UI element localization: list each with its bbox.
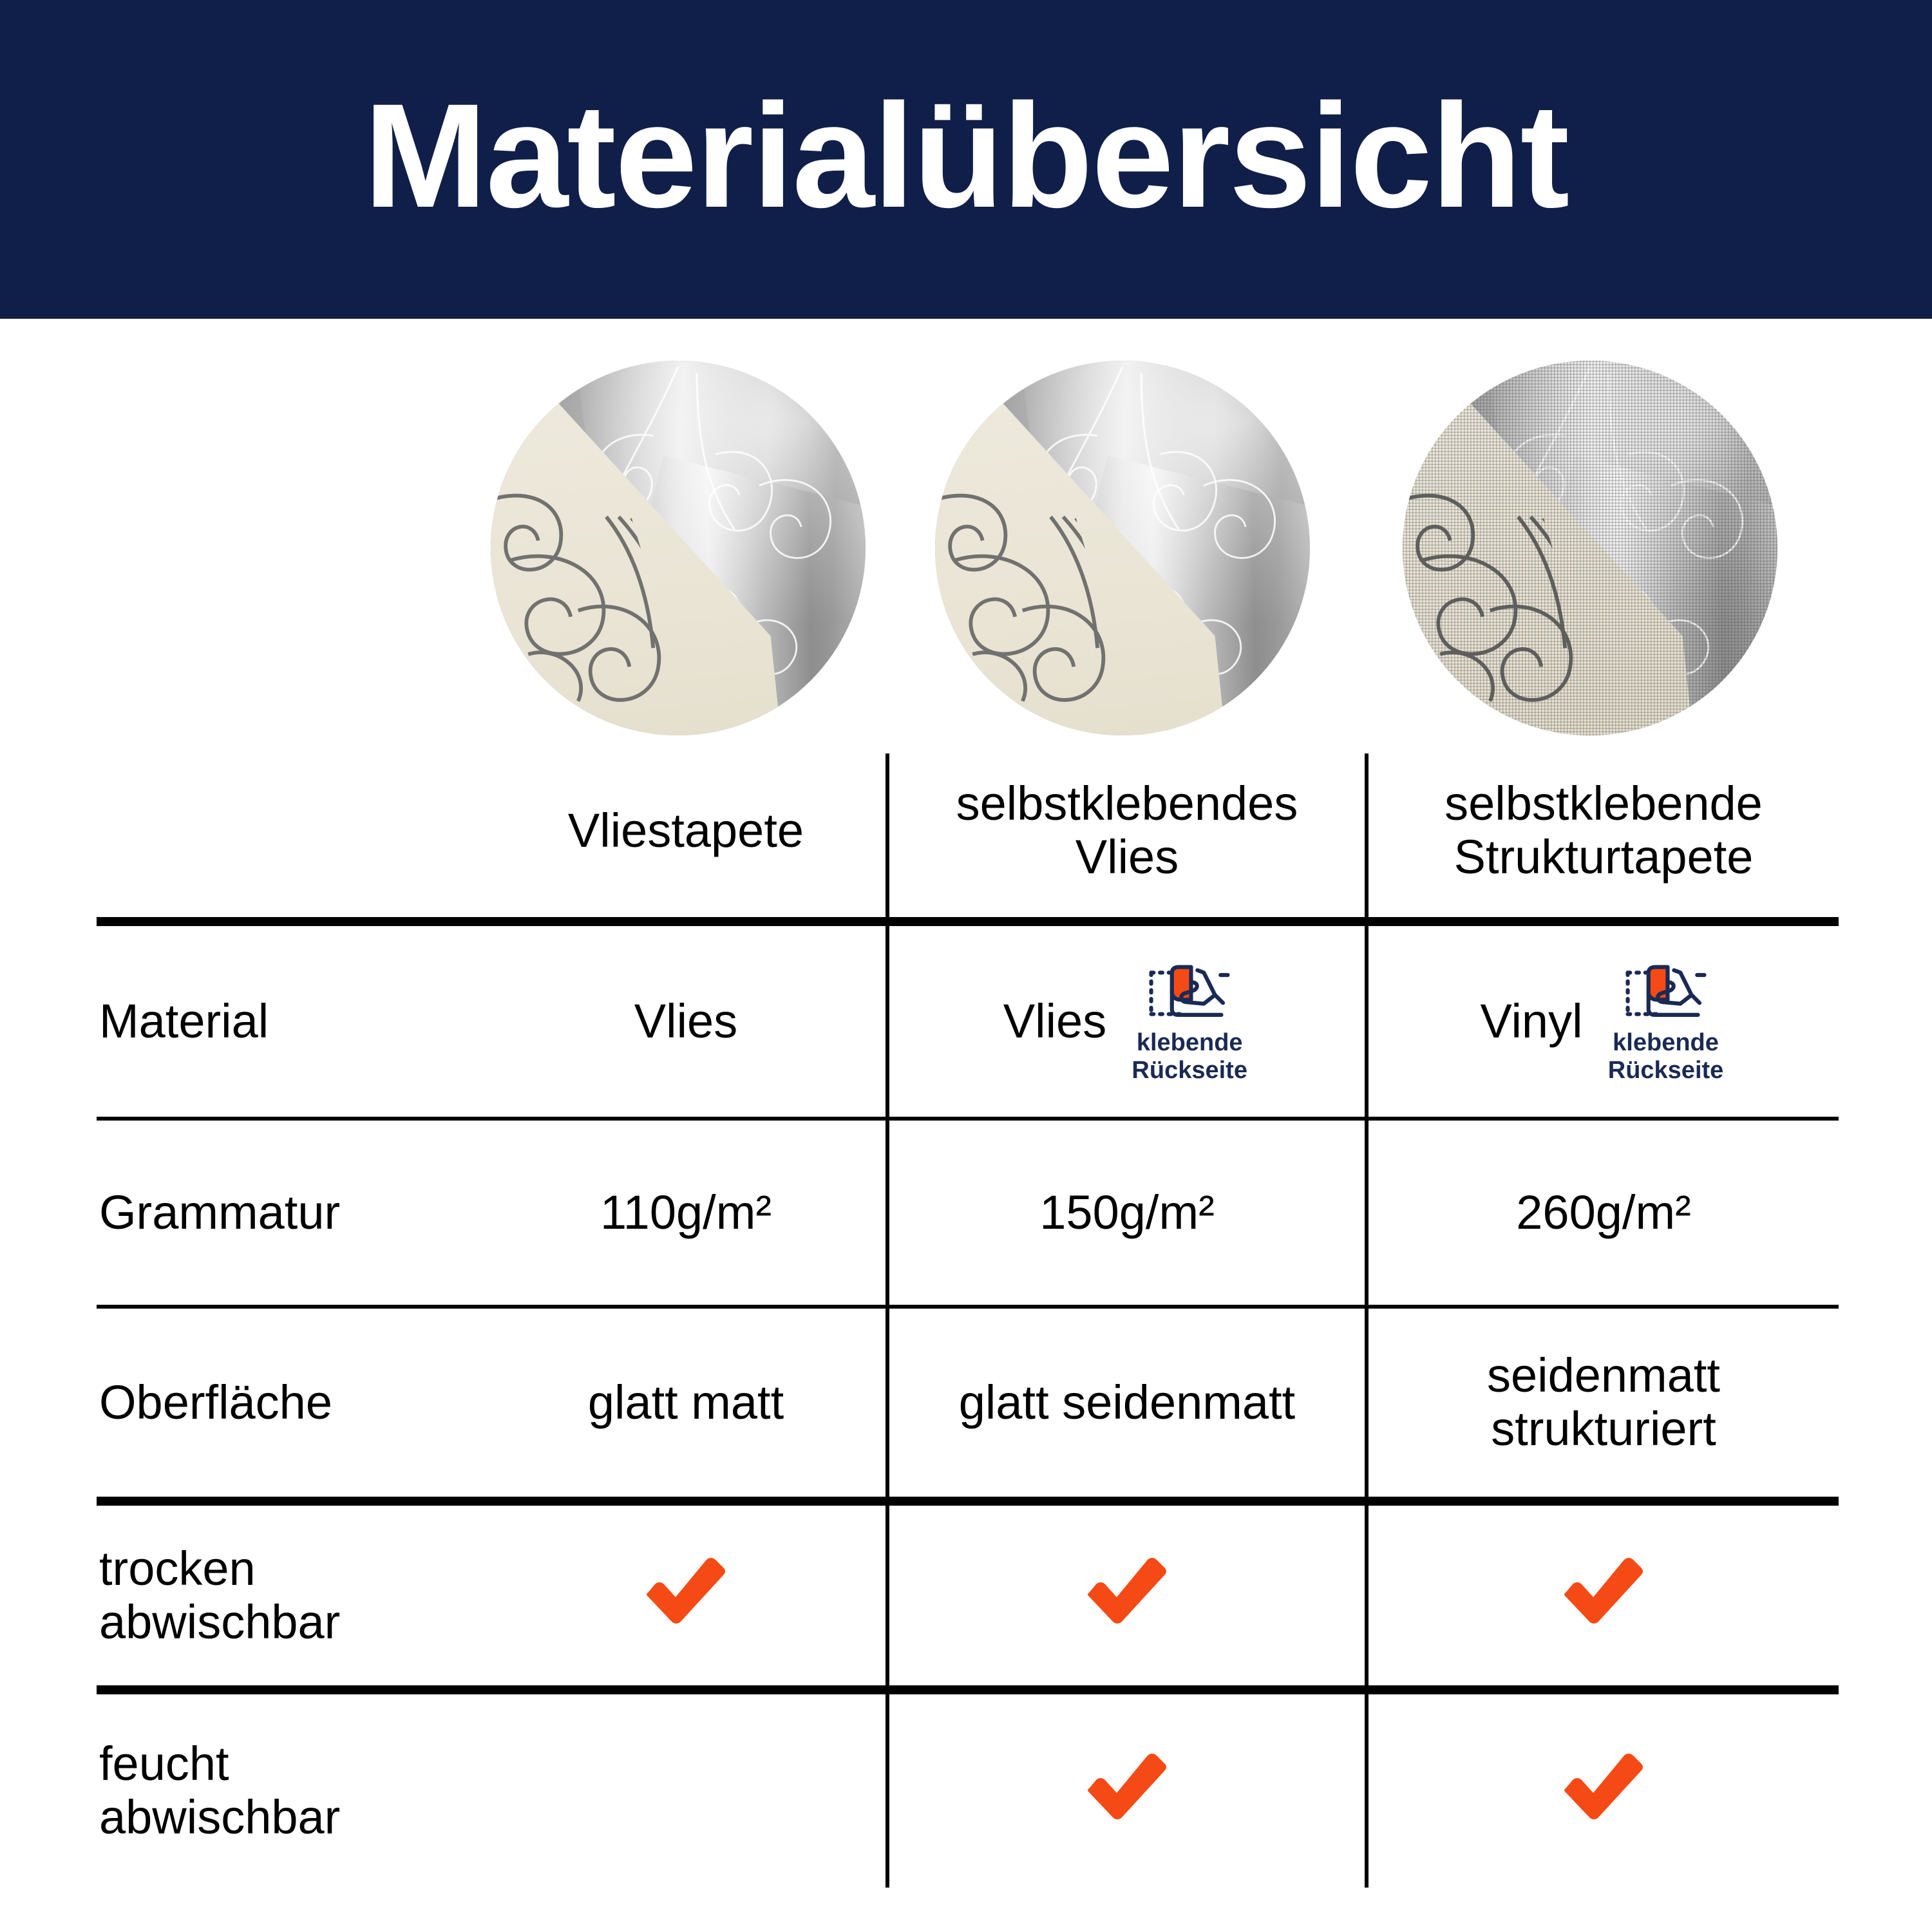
material-value: Vlies [634,995,737,1048]
check-icon [1560,1555,1647,1625]
material-value: Vlies [1003,995,1106,1048]
row-label-trocken-abwischbar: trocken abwischbar [97,1501,486,1690]
table-row-oberflaeche: Oberfläche glatt matt glatt seidenmatt s… [97,1307,1839,1501]
cell-trocken-selbstklebendes-vlies [887,1501,1367,1690]
cell-oberflaeche-vliestapete: glatt matt [486,1307,887,1501]
column-header-vliestapete: Vliestapete [486,753,887,922]
cell-oberflaeche-selbstklebendes-vlies: glatt seidenmatt [887,1307,1367,1501]
table-row-feucht-abwischbar: feucht abwischbar [97,1690,1839,1888]
row-label-feucht-abwischbar: feucht abwischbar [97,1690,486,1888]
row-label-material: Material [97,922,486,1119]
page-title: Materialübersicht [364,82,1568,230]
table-row-grammatur: Grammatur 110g/m² 150g/m² 260g/m² [97,1119,1839,1307]
canvas-texture-overlay [1403,361,1777,735]
adhesive-backing-badge: klebende Rückseite [1128,958,1251,1084]
check-icon [642,1555,730,1625]
column-header-selbstklebende-strukturtapete: selbstklebende Strukturtapete [1367,753,1839,922]
badge-label-line2: Rückseite [1608,1057,1724,1084]
cell-grammatur-vliestapete: 110g/m² [486,1119,887,1307]
table-row-material: Material Vlies Vlies [97,922,1839,1119]
no-check-placeholder [495,1791,876,1792]
adhesive-backing-icon [1618,958,1714,1025]
cell-material-vliestapete: Vlies [486,922,887,1119]
cell-oberflaeche-selbstklebende-strukturtapete: seidenmatt strukturiert [1367,1307,1839,1501]
cell-feucht-selbstklebendes-vlies [887,1690,1367,1888]
cell-grammatur-selbstklebendes-vlies: 150g/m² [887,1119,1367,1307]
sample-image-selbstklebendes-vlies [935,361,1310,735]
badge-label-line1: klebende [1137,1029,1243,1056]
table-header-row: Vliestapete selbstklebendes Vlies selbst… [97,753,1839,922]
page-header: Materialübersicht [0,0,1932,319]
material-value: Vinyl [1480,995,1582,1048]
row-label-oberflaeche: Oberfläche [97,1307,486,1501]
cell-grammatur-selbstklebende-strukturtapete: 260g/m² [1367,1119,1839,1307]
adhesive-backing-icon [1141,958,1238,1025]
cell-feucht-vliestapete [486,1690,887,1888]
adhesive-backing-badge: klebende Rückseite [1605,958,1727,1084]
sample-image-selbstklebende-strukturtapete [1403,361,1777,735]
sample-image-row [0,361,1932,753]
cell-trocken-vliestapete [486,1501,887,1690]
column-header-selbstklebendes-vlies: selbstklebendes Vlies [887,753,1367,922]
check-icon [1083,1750,1171,1821]
table-row-trocken-abwischbar: trocken abwischbar [97,1501,1839,1690]
sample-image-vliestapete [491,361,866,735]
cell-material-selbstklebendes-vlies: Vlies [887,922,1367,1119]
cell-material-selbstklebende-strukturtapete: Vinyl [1367,922,1839,1119]
badge-label-line1: klebende [1613,1029,1719,1056]
row-label-grammatur: Grammatur [97,1119,486,1307]
table-corner-cell [97,753,486,922]
check-icon [1560,1750,1647,1821]
cell-feucht-selbstklebende-strukturtapete [1367,1690,1839,1888]
check-icon [1083,1555,1171,1625]
cell-trocken-selbstklebende-strukturtapete [1367,1501,1839,1690]
material-comparison-table: Vliestapete selbstklebendes Vlies selbst… [97,753,1839,1888]
badge-label-line2: Rückseite [1132,1057,1247,1084]
